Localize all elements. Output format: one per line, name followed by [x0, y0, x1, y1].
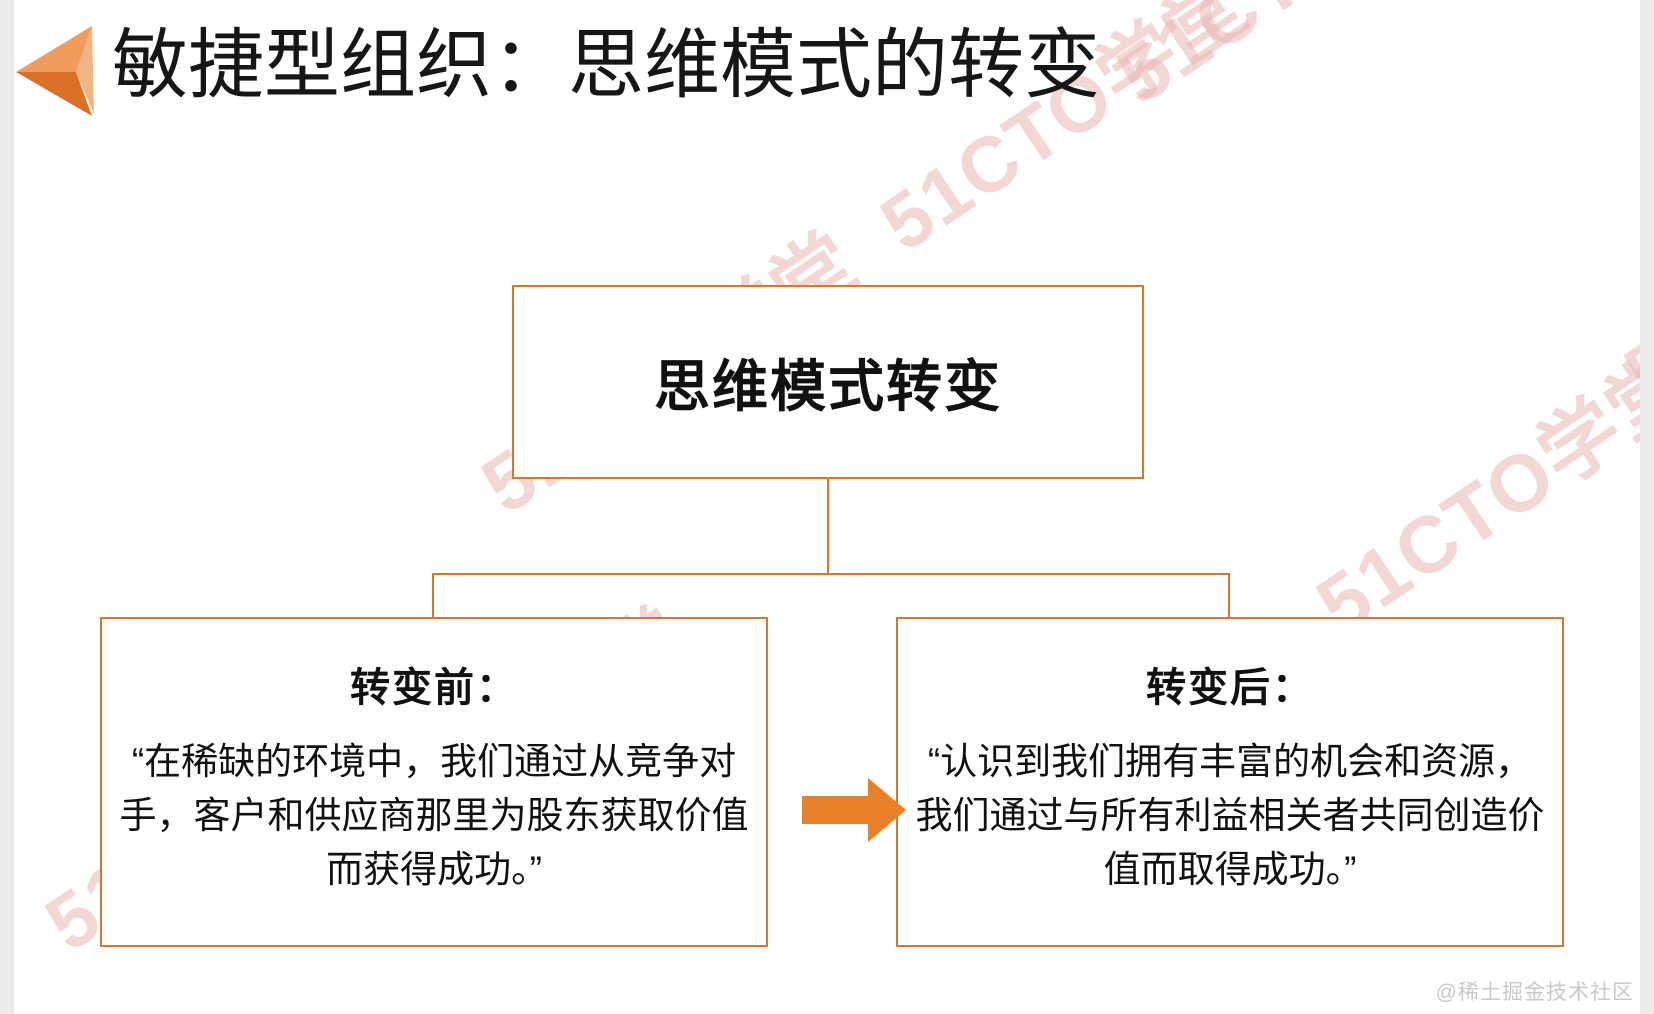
leaf-quote-after: “认识到我们拥有丰富的机会和资源，我们通过与所有利益相关者共同创造价值而取得成功…: [898, 735, 1562, 897]
attribution-label: @稀土掘金技术社区: [1436, 976, 1634, 1006]
slide-canvas: 51CTO学堂 51CTO学堂 51CTO学堂 51CTO学堂 51CTO学堂 …: [0, 0, 1654, 1014]
connector-drop-right: [1228, 573, 1230, 619]
right-block-arrow-icon: [802, 778, 906, 842]
left-gutter: [0, 0, 14, 1014]
connector-stem: [827, 479, 829, 575]
left-triangle-icon: [14, 22, 100, 118]
leaf-heading-before: 转变前：: [350, 655, 518, 713]
connector-drop-left: [432, 573, 434, 619]
leaf-quote-before: “在稀缺的环境中，我们通过从竞争对手，客户和供应商那里为股东获取价值而获得成功。…: [102, 735, 766, 897]
page-title: 敏捷型组织：思维模式的转变: [112, 14, 1100, 118]
leaf-node-after[interactable]: 转变后： “认识到我们拥有丰富的机会和资源，我们通过与所有利益相关者共同创造价值…: [896, 617, 1564, 947]
root-node[interactable]: 思维模式转变: [512, 285, 1144, 479]
leaf-node-before[interactable]: 转变前： “在稀缺的环境中，我们通过从竞争对手，客户和供应商那里为股东获取价值而…: [100, 617, 768, 947]
right-gutter: [1640, 0, 1654, 1014]
connector-horizontal: [432, 573, 1230, 575]
root-node-label: 思维模式转变: [654, 342, 1002, 423]
slide-header: 敏捷型组织：思维模式的转变: [0, 0, 1654, 132]
leaf-heading-after: 转变后：: [1146, 655, 1314, 713]
mindset-shift-diagram: 思维模式转变 转变前： “在稀缺的环境中，我们通过从竞争对手，客户和供应商那里为…: [0, 0, 1654, 1014]
